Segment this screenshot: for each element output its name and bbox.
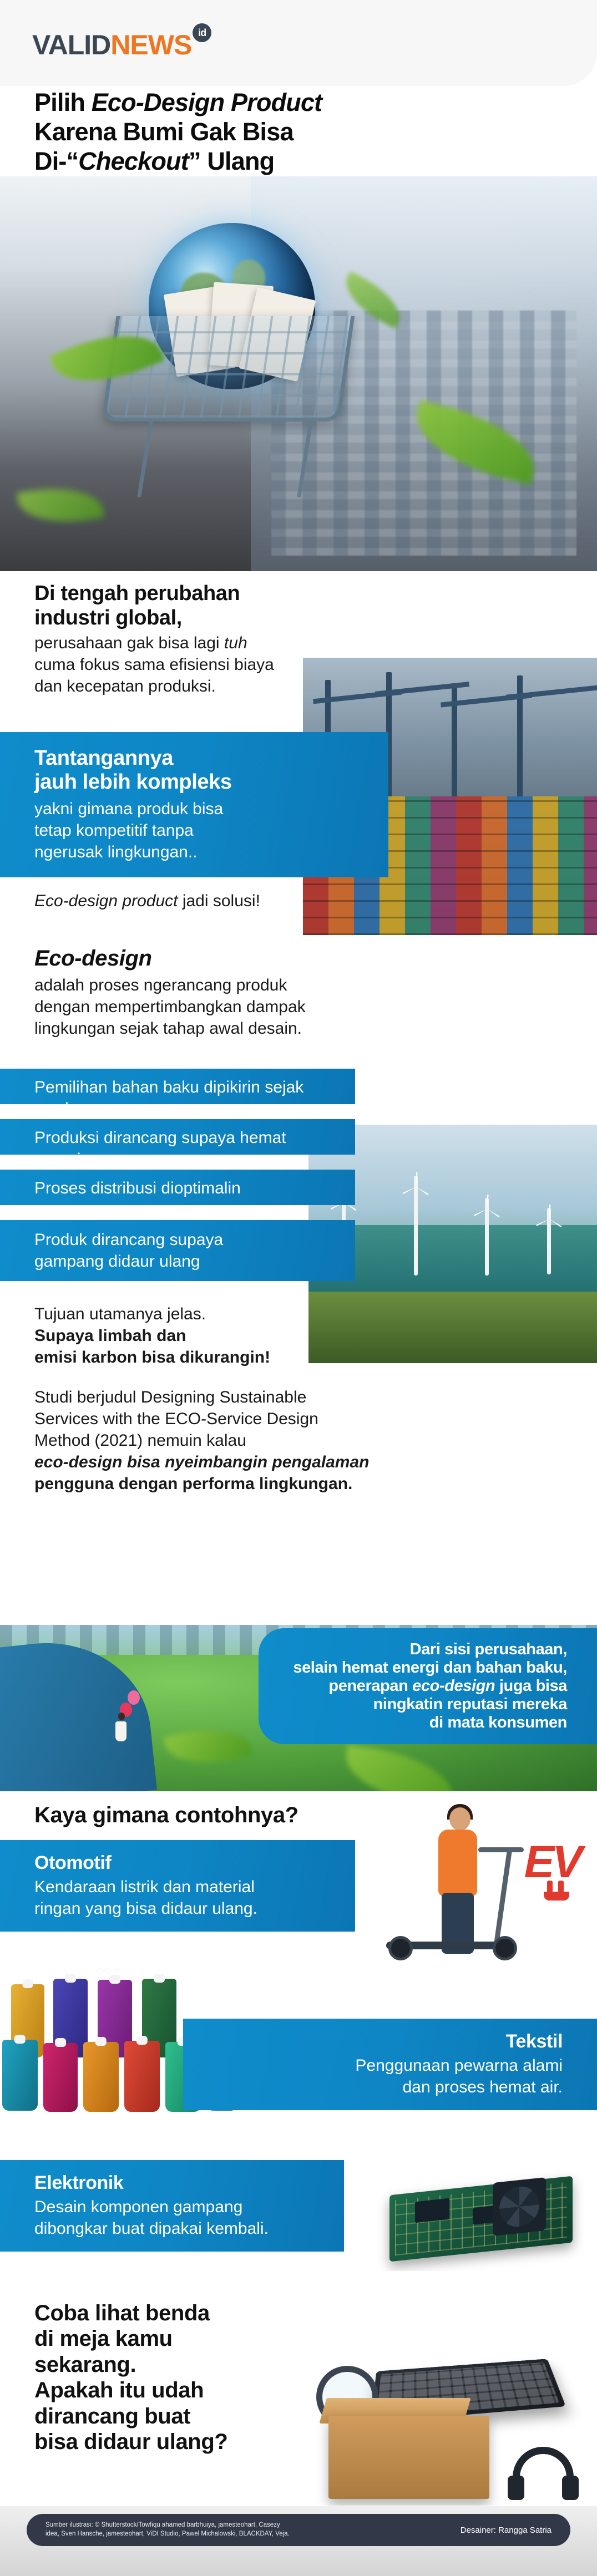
electric-scooter-image: EV xyxy=(364,1783,597,1983)
study-text: Studi berjudul Designing Sustainable Ser… xyxy=(34,1386,561,1495)
cart-leg xyxy=(137,420,153,497)
study-line-1: Studi berjudul Designing Sustainable xyxy=(34,1386,561,1408)
challenge-body-line-2: tetap kompetitif tanpa xyxy=(34,820,354,841)
cooling-fan xyxy=(493,2177,546,2236)
intro-lead-line-2: industri global, xyxy=(34,606,561,630)
study-italic-text: eco-design bisa nyeimbangin pengalaman xyxy=(34,1453,369,1471)
solution-rest: jadi solusi! xyxy=(178,892,260,910)
title-line-2: Karena Bumi Gak Bisa xyxy=(34,117,567,146)
cardboard-box xyxy=(328,2416,489,2499)
thread-spool xyxy=(124,2041,160,2112)
study-line-3: Method (2021) nemuin kalau xyxy=(34,1430,561,1451)
intro-text: Di tengah perubahan industri global, per… xyxy=(34,581,561,697)
scooter-wheel xyxy=(493,1936,517,1960)
girl-figure xyxy=(115,1713,127,1748)
principle-bar-4: Produk dirancang supaya gampang didaur u… xyxy=(0,1220,355,1281)
title-part-ulang: ” Ulang xyxy=(189,147,274,175)
leaf-icon xyxy=(17,481,104,529)
chip xyxy=(415,2198,449,2223)
footer-bar: Sumber ilustrasi: © Shutterstock/Towfiqu… xyxy=(27,2514,570,2546)
definition-text: Eco-design adalah proses ngerancang prod… xyxy=(34,946,561,1039)
closing-line-2: di meja kamu xyxy=(34,2326,323,2351)
principle-bar-2: Produksi dirancang supaya hemat energi xyxy=(0,1119,355,1155)
solution-italic: Eco-design product xyxy=(34,892,178,910)
source-line-1: Sumber ilustrasi: © Shutterstock/Towfiqu… xyxy=(45,2521,290,2530)
principle-bar-1: Pemilihan bahan baku dipikirin sejak awa… xyxy=(0,1069,355,1104)
intro-body-line-3: dan kecepatan produksi. xyxy=(34,675,561,697)
designer-credit: Desainer: Rangga Satria xyxy=(461,2526,552,2535)
example-panel-elektronik: Elektronik Desain komponen gampang dibon… xyxy=(0,2160,344,2252)
girl-dress xyxy=(115,1721,127,1741)
wind-turbine xyxy=(547,1208,551,1274)
challenge-body-line-1: yakni gimana produk bisa xyxy=(34,798,354,820)
example-panel-tekstil: Tekstil Penggunaan pewarna alami dan pro… xyxy=(183,2019,597,2110)
example-panel-otomotif: Otomotif Kendaraan listrik dan material … xyxy=(0,1840,355,1932)
closing-line-3: sekarang. xyxy=(34,2352,323,2377)
header-bar: VALIDNEWSid xyxy=(0,0,597,86)
example-desc-line-1: Penggunaan pewarna alami xyxy=(217,2055,563,2076)
example-desc-line-1: Kendaraan listrik dan material xyxy=(34,1876,321,1898)
intro-body-line-2: cuma fokus sama efisiensi biaya xyxy=(34,654,561,675)
girl-head xyxy=(118,1713,125,1720)
wind-turbine xyxy=(485,1198,489,1276)
intro-body-italic: tuh xyxy=(224,634,247,652)
challenge-body-line-3: ngerusak lingkungan.. xyxy=(34,841,354,863)
definition-line-2: dengan mempertimbangkan dampak xyxy=(34,996,561,1018)
scooter-stem xyxy=(494,1850,512,1945)
definition-heading: Eco-design xyxy=(34,946,561,971)
title-part-ecodesign: Eco-Design Product xyxy=(92,88,322,116)
benefit-line-2: selain hemat energi dan bahan baku, xyxy=(289,1659,567,1677)
example-desc-line-2: dan proses hemat air. xyxy=(217,2076,563,2098)
intro-lead-line-1: Di tengah perubahan xyxy=(34,581,561,606)
title-line-3: Di-“Checkout” Ulang xyxy=(34,146,567,176)
headphones xyxy=(513,2447,574,2486)
principle-label: Produk dirancang supaya gampang didaur u… xyxy=(34,1229,321,1272)
title-part-di: Di-“ xyxy=(34,147,78,175)
title-line-1: Pilih Eco-Design Product xyxy=(34,88,567,117)
example-desc-line-1: Desain komponen gampang xyxy=(34,2196,310,2218)
goal-text: Tujuan utamanya jelas. Supaya limbah dan… xyxy=(34,1303,561,1368)
example-title-tekstil: Tekstil xyxy=(217,2031,563,2052)
definition-line-3: lingkungan sejak tahap awal desain. xyxy=(34,1018,561,1039)
infographic-page: VALIDNEWSid Pilih Eco-Design Product Kar… xyxy=(0,0,597,2576)
example-desc-line-2: dibongkar buat dipakai kembali. xyxy=(34,2218,310,2239)
logo-text-news: NEWS xyxy=(110,29,191,61)
solution-text: Eco-design product jadi solusi! xyxy=(34,890,561,912)
benefit-text: juga bisa xyxy=(495,1677,567,1695)
closing-line-5: dirancang buat xyxy=(34,2404,323,2429)
challenge-head-line-2: jauh lebih kompleks xyxy=(34,770,354,794)
thread-spool xyxy=(2,2040,38,2111)
benefit-line-1: Dari sisi perusahaan, xyxy=(289,1640,567,1659)
hero-image-cart-globe xyxy=(0,176,597,571)
logo-text-valid: VALID xyxy=(32,29,110,61)
principle-label: Produksi dirancang supaya hemat energi xyxy=(34,1127,321,1170)
balloon xyxy=(128,1690,140,1705)
validnews-logo[interactable]: VALIDNEWSid xyxy=(32,29,211,61)
challenge-head-line-1: Tantangannya xyxy=(34,746,354,770)
intro-body-line-1: perusahaan gak bisa lagi tuh xyxy=(34,632,561,654)
benefit-line-3: penerapan eco-design juga bisa xyxy=(289,1677,567,1695)
solution-line: Eco-design product jadi solusi! xyxy=(34,890,561,912)
title-part-checkout: Checkout xyxy=(78,147,189,175)
principle-label: Proses distribusi dioptimalin xyxy=(34,1177,321,1199)
closing-line-6: bisa didaur ulang? xyxy=(34,2429,323,2455)
plug-icon xyxy=(544,1881,579,1899)
goal-bold-line-1: Supaya limbah dan xyxy=(34,1325,561,1347)
definition-line-1: adalah proses ngerancang produk xyxy=(34,974,561,996)
closing-text: Coba lihat benda di meja kamu sekarang. … xyxy=(34,2300,323,2455)
principle-bar-3: Proses distribusi dioptimalin xyxy=(0,1170,355,1205)
desk-objects-image xyxy=(308,2323,597,2506)
benefit-italic: eco-design xyxy=(412,1677,495,1695)
example-title-elektronik: Elektronik xyxy=(34,2172,310,2194)
study-line-5: pengguna dengan performa lingkungan. xyxy=(34,1473,561,1495)
footer: Sumber ilustrasi: © Shutterstock/Towfiqu… xyxy=(0,2506,597,2576)
scooter-wheel xyxy=(388,1936,413,1960)
thread-spool xyxy=(43,2043,78,2112)
cart-leg xyxy=(297,420,313,497)
benefit-line-5: di mata konsumen xyxy=(289,1714,567,1732)
closing-line-4: Apakah itu udah xyxy=(34,2377,323,2403)
thread-spool xyxy=(83,2042,119,2112)
example-title-otomotif: Otomotif xyxy=(34,1852,321,1874)
rider-torso xyxy=(438,1830,477,1896)
study-line-4: eco-design bisa nyeimbangin pengalaman xyxy=(34,1451,561,1473)
benefit-line-4: ningkatin reputasi mereka xyxy=(289,1695,567,1714)
principle-label: Pemilihan bahan baku dipikirin sejak awa… xyxy=(34,1076,321,1120)
source-credit: Sumber ilustrasi: © Shutterstock/Towfiqu… xyxy=(45,2521,290,2538)
challenge-panel: Tantangannya jauh lebih kompleks yakni g… xyxy=(0,732,388,877)
logo-badge-id: id xyxy=(193,23,211,42)
closing-line-1: Coba lihat benda xyxy=(34,2300,323,2326)
wind-turbine xyxy=(414,1176,418,1276)
title-part-pilih: Pilih xyxy=(34,88,92,116)
rider-figure xyxy=(425,1800,492,1955)
challenge-panel-inner: Tantangannya jauh lebih kompleks yakni g… xyxy=(0,732,388,877)
intro-body-text: perusahaan gak bisa lagi xyxy=(34,634,224,652)
page-title: Pilih Eco-Design Product Karena Bumi Gak… xyxy=(34,88,567,176)
electronics-pcb-image xyxy=(364,2149,597,2271)
benefit-text: penerapan xyxy=(328,1677,412,1695)
source-line-2: idea, Sven Hansche, jamesteohart, ViDI S… xyxy=(45,2530,290,2539)
example-desc-line-2: ringan yang bisa didaur ulang. xyxy=(34,1898,321,1919)
company-benefit-panel: Dari sisi perusahaan, selain hemat energ… xyxy=(259,1628,597,1744)
study-line-2: Services with the ECO-Service Design xyxy=(34,1408,561,1430)
goal-bold-line-2: emisi karbon bisa dikurangin! xyxy=(34,1347,561,1368)
goal-line-1: Tujuan utamanya jelas. xyxy=(34,1303,561,1325)
rider-head xyxy=(449,1807,470,1831)
scooter-handlebar xyxy=(478,1847,524,1852)
